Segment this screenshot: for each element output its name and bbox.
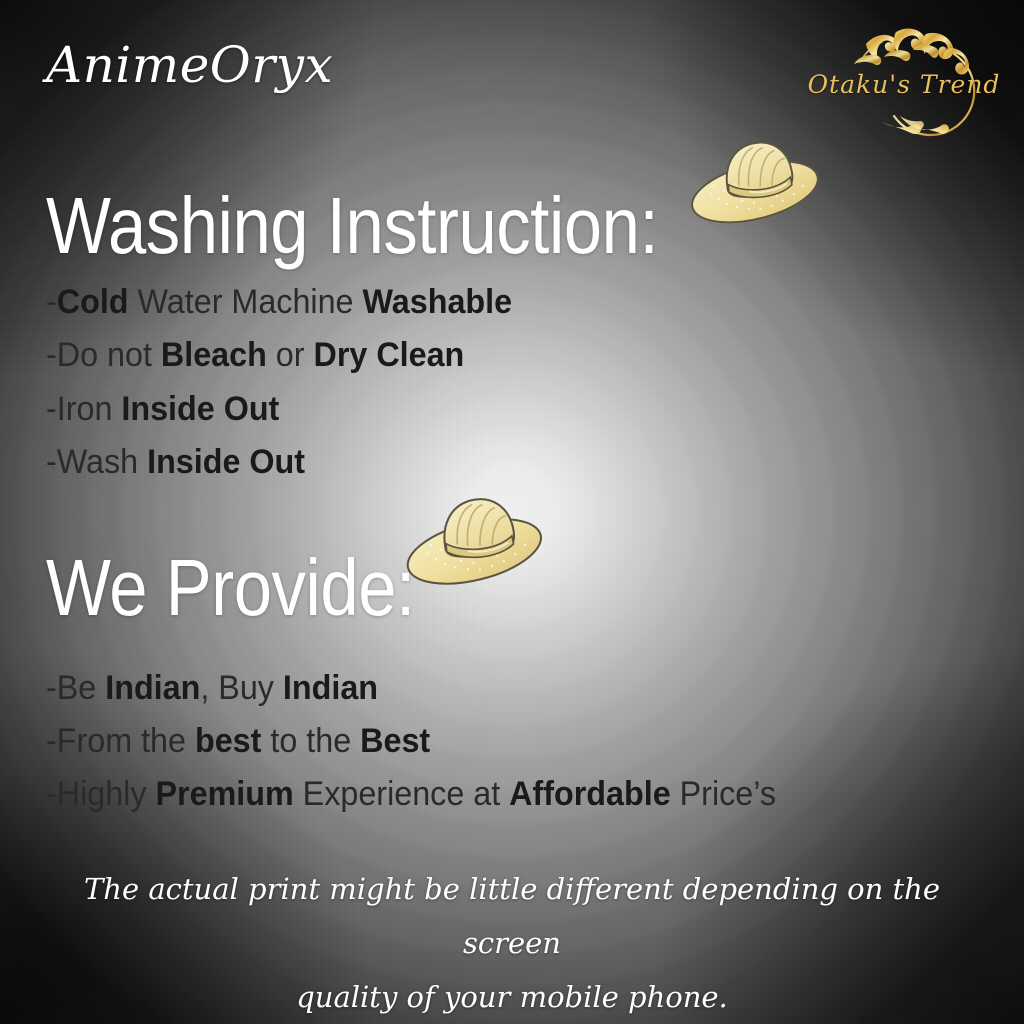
provide-line-3: -Highly Premium Experience at Affordable… — [46, 777, 776, 811]
logo-flourish-bottom — [882, 116, 949, 134]
disclaimer-line-1: The actual print might be little differe… — [46, 862, 978, 970]
straw-hat-icon — [395, 481, 559, 600]
straw-hat-icon — [680, 126, 834, 238]
logo-flourish-top — [854, 29, 969, 75]
disclaimer-line-2: quality of your mobile phone. — [46, 970, 978, 1024]
otakus-trend-logo: Otaku's Trend — [804, 18, 1004, 146]
provide-line-2: -From the best to the Best — [46, 724, 430, 758]
heading-washing-instruction: Washing Instruction: — [46, 186, 658, 266]
brand-wordmark: AnimeOryx — [46, 36, 333, 94]
washing-line-3: -Iron Inside Out — [46, 392, 279, 426]
washing-line-1: -Cold Water Machine Washable — [46, 285, 512, 319]
disclaimer: The actual print might be little differe… — [0, 862, 1024, 1024]
provide-line-1: -Be Indian, Buy Indian — [46, 671, 378, 705]
logo-text: Otaku's Trend — [804, 70, 1004, 99]
heading-we-provide: We Provide: — [46, 548, 415, 628]
washing-line-4: -Wash Inside Out — [46, 445, 305, 479]
poster-canvas: AnimeOryx — [0, 0, 1024, 1024]
washing-line-2: -Do not Bleach or Dry Clean — [46, 338, 464, 372]
